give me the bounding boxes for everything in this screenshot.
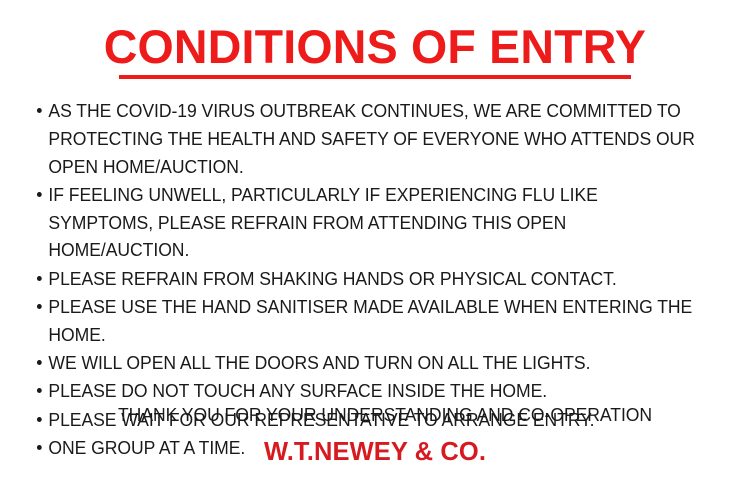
bullet-dot-icon bbox=[37, 276, 42, 281]
page-title: CONDITIONS OF ENTRY bbox=[104, 22, 646, 72]
title-underline-rule bbox=[119, 75, 631, 79]
list-item-text: WE WILL OPEN ALL THE DOORS AND TURN ON A… bbox=[48, 349, 704, 377]
list-item-text: PLEASE DO NOT TOUCH ANY SURFACE INSIDE T… bbox=[48, 377, 704, 405]
list-item-text: PLEASE REFRAIN FROM SHAKING HANDS OR PHY… bbox=[48, 265, 704, 293]
conditions-of-entry-poster: CONDITIONS OF ENTRY AS THE COVID-19 VIRU… bbox=[0, 0, 750, 495]
bullet-dot-icon bbox=[37, 360, 42, 365]
list-item: IF FEELING UNWELL, PARTICULARLY IF EXPER… bbox=[36, 181, 705, 264]
company-signature: W.T.NEWEY & CO. bbox=[0, 437, 750, 467]
list-item: AS THE COVID-19 VIRUS OUTBREAK CONTINUES… bbox=[36, 97, 705, 180]
list-item: PLEASE USE THE HAND SANITISER MADE AVAIL… bbox=[36, 293, 705, 349]
list-item-text: IF FEELING UNWELL, PARTICULARLY IF EXPER… bbox=[48, 181, 704, 264]
bullet-dot-icon bbox=[37, 304, 42, 309]
title-block: CONDITIONS OF ENTRY bbox=[0, 0, 750, 79]
list-item: PLEASE DO NOT TOUCH ANY SURFACE INSIDE T… bbox=[36, 377, 705, 405]
bullet-dot-icon bbox=[37, 417, 42, 422]
closing-message: THANK YOU FOR YOUR UNDERSTANDING AND CO-… bbox=[118, 403, 652, 427]
list-item-text: AS THE COVID-19 VIRUS OUTBREAK CONTINUES… bbox=[48, 97, 704, 180]
bullet-dot-icon bbox=[37, 388, 42, 393]
bullet-dot-icon bbox=[37, 192, 42, 197]
bullet-dot-icon bbox=[37, 108, 42, 113]
list-item-text: PLEASE USE THE HAND SANITISER MADE AVAIL… bbox=[48, 293, 704, 349]
list-item: WE WILL OPEN ALL THE DOORS AND TURN ON A… bbox=[36, 349, 705, 377]
list-item: PLEASE REFRAIN FROM SHAKING HANDS OR PHY… bbox=[36, 265, 705, 293]
